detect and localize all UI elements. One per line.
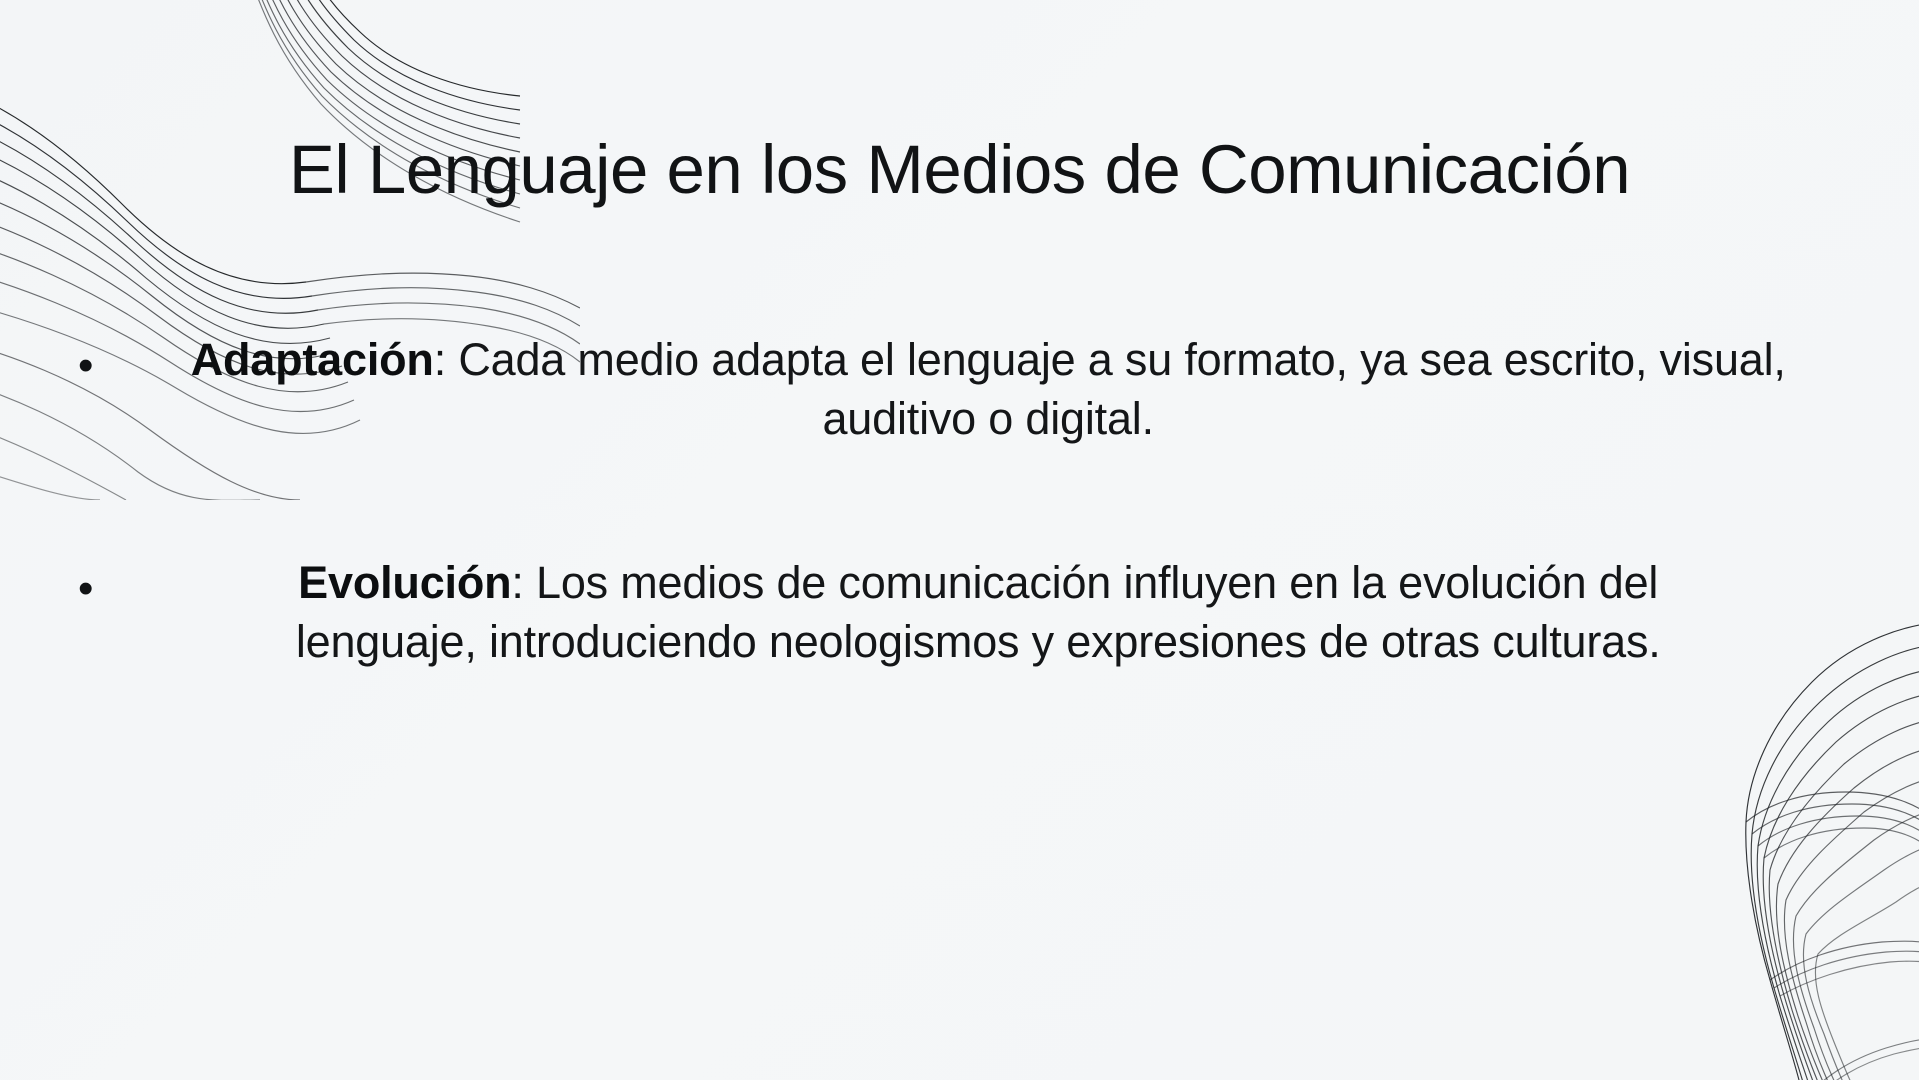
bullet-text-1: Adaptación: Cada medio adapta el lenguaj…: [93, 330, 1919, 449]
slide-canvas: El Lenguaje en los Medios de Comunicació…: [0, 0, 1919, 1080]
bullet-text-2: Evolución: Los medios de comunicación in…: [93, 553, 1919, 672]
list-item: • Adaptación: Cada medio adapta el lengu…: [0, 330, 1919, 449]
list-item: • Evolución: Los medios de comunicación …: [0, 553, 1919, 672]
bullet-separator-2: :: [511, 557, 536, 608]
slide-body: • Adaptación: Cada medio adapta el lengu…: [0, 330, 1919, 672]
bullet-separator-1: :: [434, 334, 459, 385]
bullet-marker-icon: •: [78, 344, 93, 388]
bullet-lead-2: Evolución: [298, 557, 511, 608]
bullet-marker-icon: •: [78, 567, 93, 611]
slide-title: El Lenguaje en los Medios de Comunicació…: [0, 134, 1919, 206]
bullet-lead-1: Adaptación: [191, 334, 434, 385]
bullet-detail-1: Cada medio adapta el lenguaje a su forma…: [458, 334, 1785, 444]
